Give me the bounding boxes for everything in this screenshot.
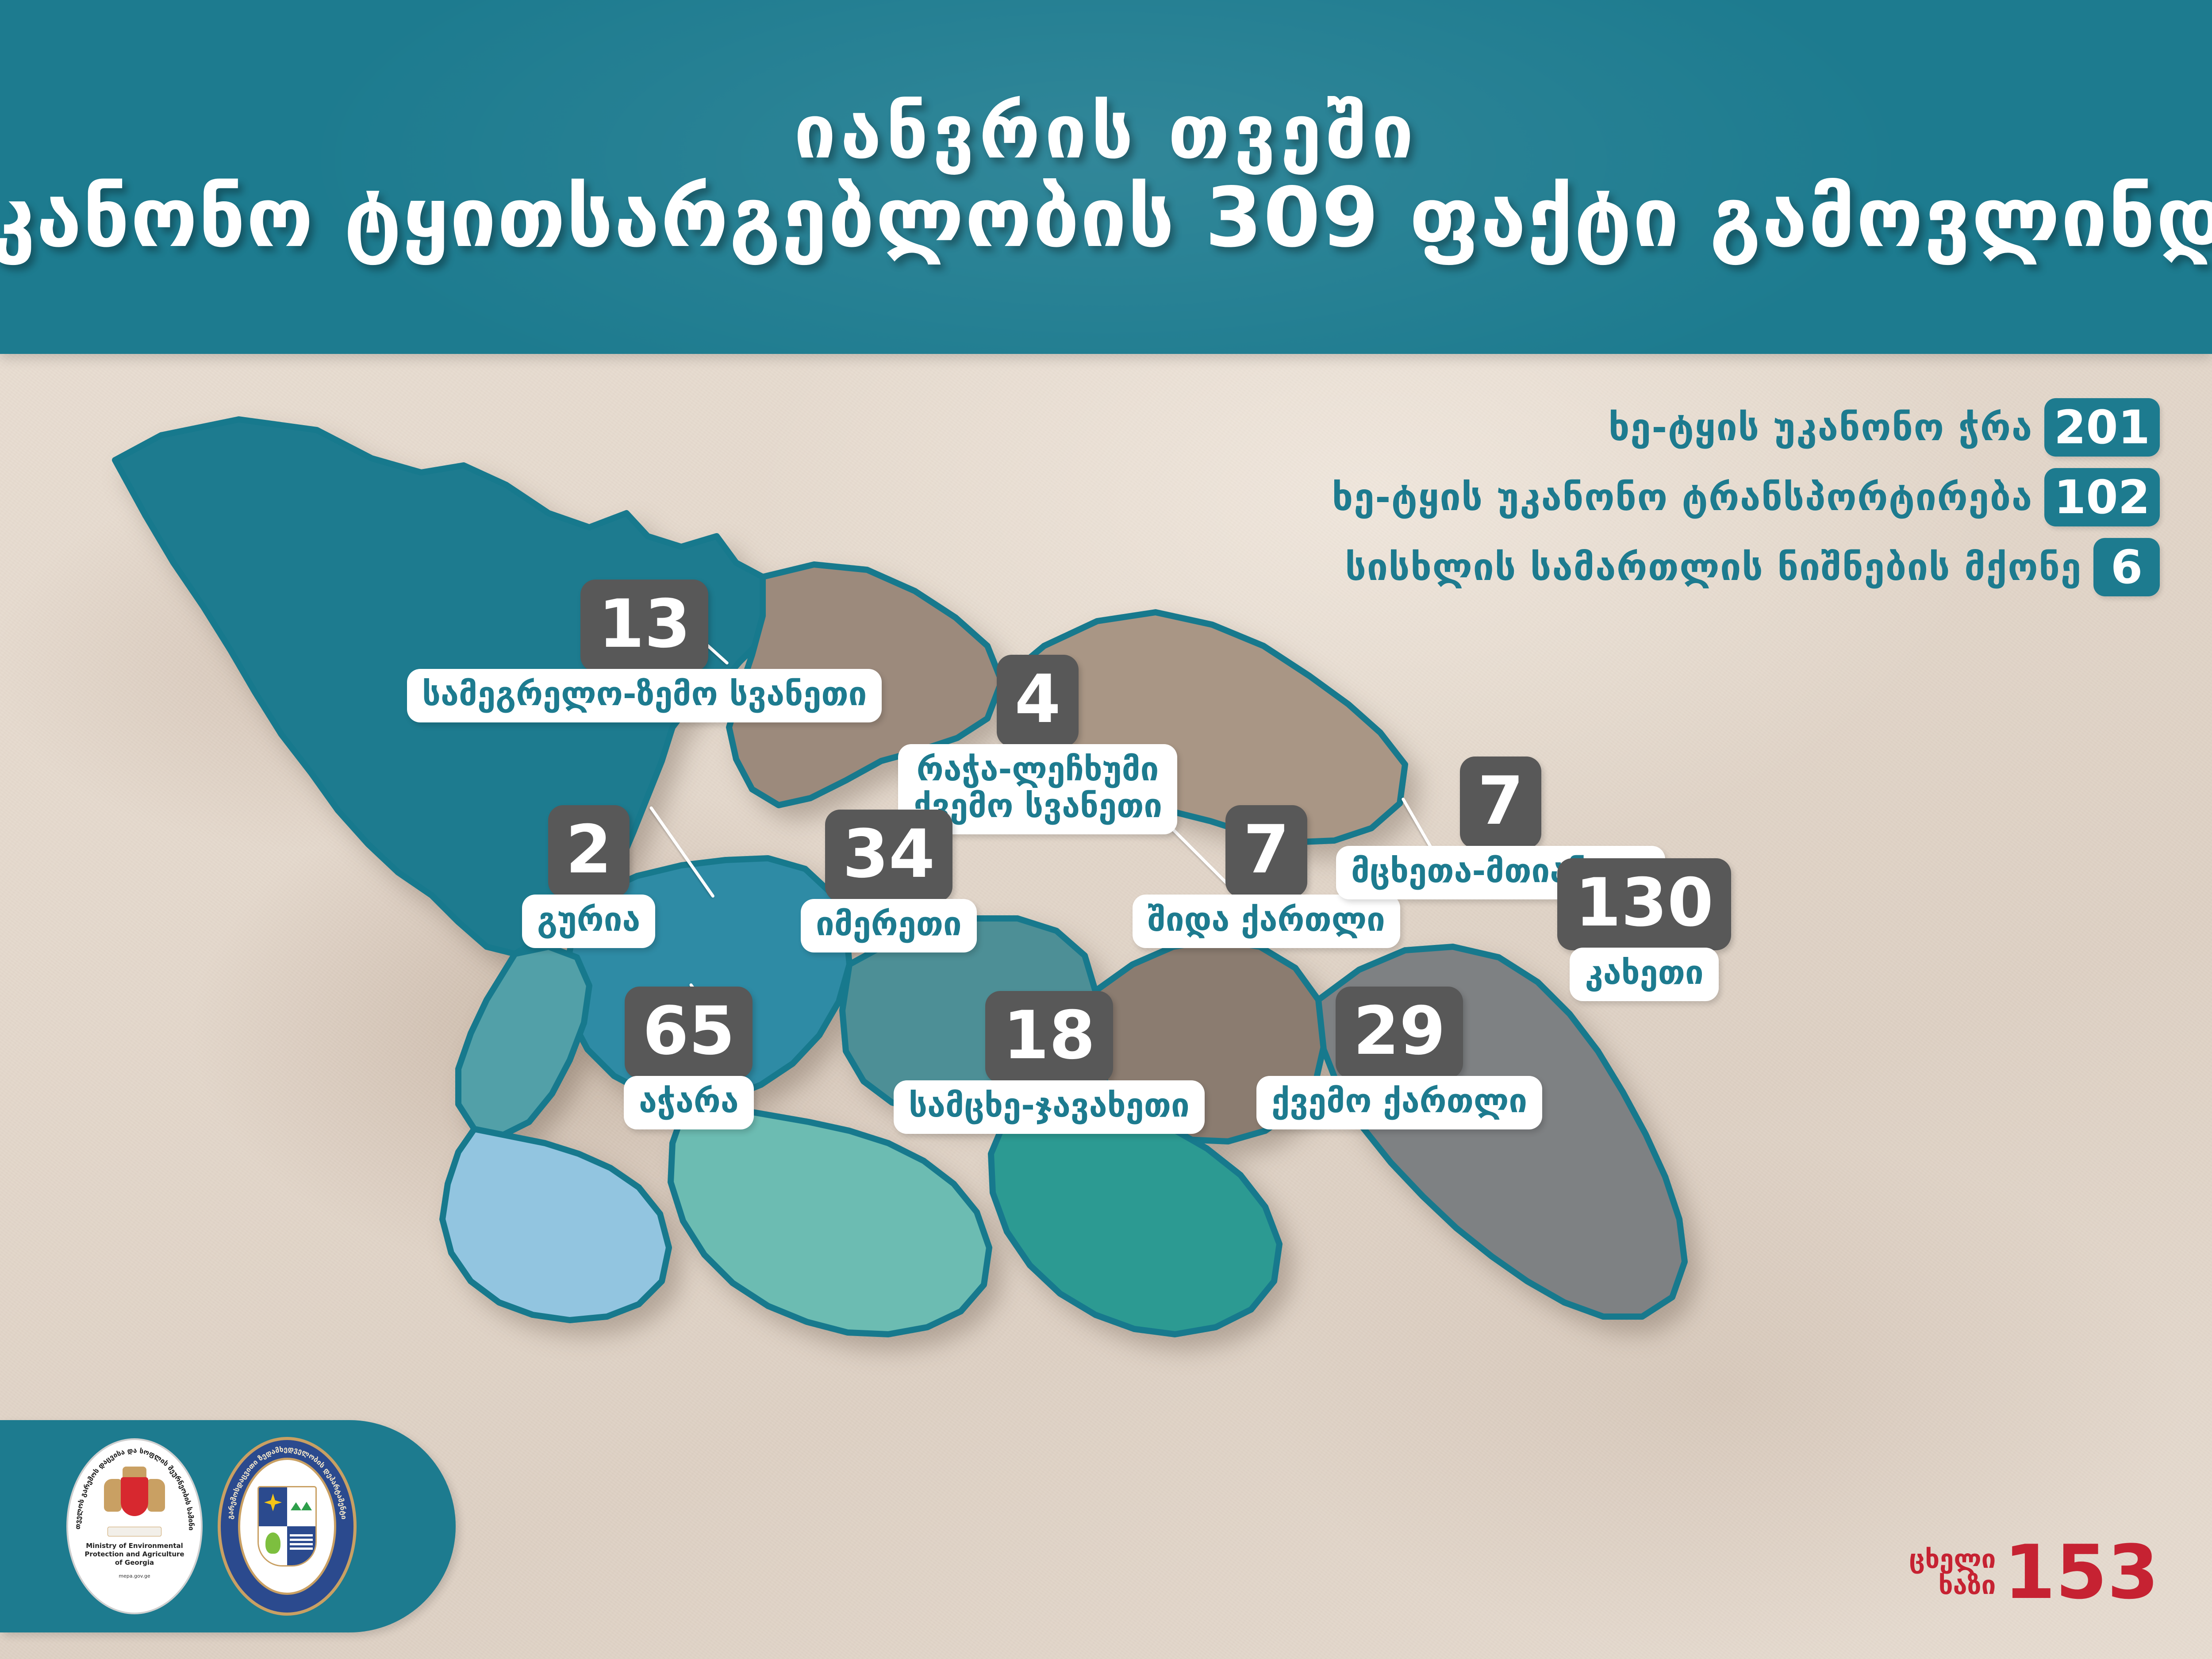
legend-row-illegal-transport: ხე-ტყის უკანონო ტრანსპორტირება 102 <box>1332 468 2160 526</box>
legend-panel: ხე-ტყის უკანონო ჭრა 201 ხე-ტყის უკანონო … <box>1332 398 2160 596</box>
legend-label-illegal-transport: ხე-ტყის უკანონო ტრანსპორტირება <box>1332 476 2033 519</box>
legend-label-criminal-signs: სისხლის სამართლის ნიშნების მქონე <box>1345 545 2082 589</box>
legend-value-criminal-signs: 6 <box>2093 538 2160 596</box>
title-total-count: 309 <box>1205 169 1380 265</box>
callout-label-kvemo: ქვემო ქართლი <box>1256 1076 1542 1129</box>
environmental-supervision-seal: გარემოსდაცვითი ზედამხედველობის დეპარტამე… <box>218 1437 357 1616</box>
legend-row-criminal-signs: სისხლის სამართლის ნიშნების მქონე 6 <box>1345 538 2160 596</box>
hotline-number: 153 <box>2004 1539 2159 1606</box>
callout-value-mtskheta: 7 <box>1460 757 1541 849</box>
callout-imereti[interactable]: 34 იმერეთი <box>801 810 977 952</box>
callout-value-shida: 7 <box>1225 805 1307 897</box>
legend-value-illegal-transport: 102 <box>2044 468 2160 526</box>
region-samtskhe <box>671 1102 989 1334</box>
callout-label-samtskhe: სამცხე-ჯავახეთი <box>894 1080 1205 1134</box>
callout-value-samtskhe: 18 <box>985 991 1113 1083</box>
callout-value-kakheti: 130 <box>1557 858 1731 950</box>
callout-label-shida: შიდა ქართლი <box>1133 895 1400 948</box>
title-text-before: უკანონო ტყითსარგებლობის <box>0 169 1175 265</box>
footer-logo-panel: საქართველოს გარემოს დაცვისა და სოფლის მე… <box>0 1420 456 1632</box>
callout-value-samegrelo: 13 <box>580 580 708 672</box>
callout-samtskhe[interactable]: 18 სამცხე-ჯავახეთი <box>894 991 1205 1134</box>
callout-label-samegrelo: სამეგრელო-ზემო სვანეთი <box>407 669 882 722</box>
callout-label-kakheti: კახეთი <box>1570 948 1718 1001</box>
region-guria <box>458 947 589 1136</box>
callout-label-imereti: იმერეთი <box>801 899 977 952</box>
callout-samegrelo[interactable]: 13 სამეგრელო-ზემო სვანეთი <box>407 580 882 722</box>
callout-guria[interactable]: 2 გურია <box>522 805 655 948</box>
callout-value-imereti: 34 <box>825 810 953 902</box>
svg-text:გარემოსდაცვითი ზედამხედველობის: გარემოსდაცვითი ზედამხედველობის დეპარტამე… <box>226 1445 349 1520</box>
callout-value-racha: 4 <box>997 655 1078 747</box>
callout-kakheti[interactable]: 130 კახეთი <box>1557 858 1731 1001</box>
callout-kvemo[interactable]: 29 ქვემო ქართლი <box>1256 987 1542 1129</box>
title-text-after: ფაქტი გამოვლინდა <box>1409 169 2212 265</box>
georgia-coat-of-arms-icon <box>101 1464 168 1539</box>
callout-label-adjara: აჭარა <box>624 1076 754 1129</box>
callout-label-guria: გურია <box>522 895 655 948</box>
callout-adjara[interactable]: 65 აჭარა <box>624 987 754 1129</box>
callout-value-kvemo: 29 <box>1336 987 1463 1079</box>
env-ring-georgian: გარემოსდაცვითი ზედამხედველობის დეპარტამე… <box>226 1445 349 1520</box>
region-adjara <box>442 1129 669 1320</box>
hotline-label: ცხელი ხაზი <box>1909 1546 1996 1598</box>
mepa-seal: საქართველოს გარემოს დაცვისა და სოფლის მე… <box>66 1438 203 1614</box>
callout-value-adjara: 65 <box>625 987 753 1079</box>
page-title-line-1: იანვრის თვეში <box>794 92 1418 171</box>
callout-value-guria: 2 <box>548 805 630 897</box>
env-ring-text: გარემოსდაცვითი ზედამხედველობის დეპარტამე… <box>221 1440 353 1613</box>
page-title-line-2: უკანონო ტყითსარგებლობის 309 ფაქტი გამოვლ… <box>0 174 2212 261</box>
legend-row-illegal-cutting: ხე-ტყის უკანონო ჭრა 201 <box>1609 398 2160 457</box>
hotline-block[interactable]: ცხელი ხაზი 153 <box>1909 1539 2159 1606</box>
header-banner: იანვრის თვეში უკანონო ტყითსარგებლობის 30… <box>0 0 2212 354</box>
legend-value-illegal-cutting: 201 <box>2044 398 2160 457</box>
legend-label-illegal-cutting: ხე-ტყის უკანონო ჭრა <box>1609 406 2033 449</box>
